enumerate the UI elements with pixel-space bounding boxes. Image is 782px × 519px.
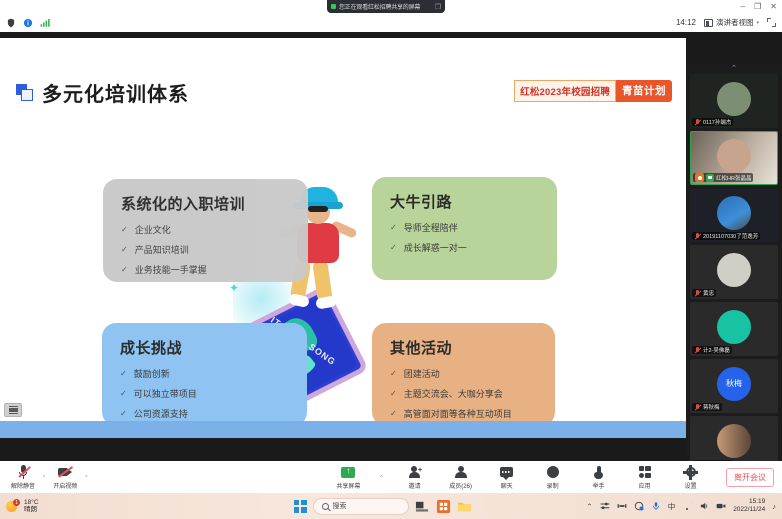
participant-nametag: 黄忠 bbox=[692, 289, 716, 297]
card-heading: 其他活动 bbox=[390, 337, 537, 358]
participant-tile[interactable]: 计2-吴佛磊 bbox=[690, 302, 778, 356]
chevron-down-icon: ▾ bbox=[756, 20, 759, 26]
list-item-label: 业务技能一手掌握 bbox=[135, 263, 207, 276]
record-icon bbox=[547, 466, 559, 478]
restore-icon[interactable]: ❐ bbox=[435, 3, 441, 11]
list-item-label: 鼓励创新 bbox=[134, 367, 170, 380]
campaign-badge: 红松2023年校园招聘 bbox=[514, 80, 616, 102]
leave-meeting-button[interactable]: 离开会议 bbox=[726, 468, 774, 487]
minimize-button[interactable]: – bbox=[741, 3, 745, 11]
list-item: ✓ 导师全程陪伴 bbox=[390, 221, 539, 234]
video-toggle-button[interactable]: 开启视频 bbox=[50, 465, 80, 490]
host-icon bbox=[695, 173, 704, 182]
meeting-elapsed-time: 14:12 bbox=[676, 18, 696, 27]
share-screen-icon bbox=[341, 467, 355, 478]
check-icon: ✓ bbox=[121, 265, 128, 274]
participant-tile[interactable]: 黄忠 bbox=[690, 245, 778, 299]
participant-tile-active[interactable]: 红松HR张晶晶 bbox=[690, 131, 778, 185]
clock-time: 15:19 bbox=[733, 498, 765, 506]
video-toggle-label: 开启视频 bbox=[53, 481, 77, 490]
participant-name: 计2-吴佛磊 bbox=[703, 346, 730, 354]
program-badge: 青苗计划 bbox=[616, 80, 672, 102]
list-item: ✓ 鼓励创新 bbox=[120, 367, 289, 380]
search-placeholder: 搜索 bbox=[333, 501, 347, 511]
list-item-label: 导师全程陪伴 bbox=[404, 221, 458, 234]
system-tray: ⌃ 中 bbox=[586, 498, 776, 514]
notifications-icon[interactable]: ♪ bbox=[772, 502, 776, 511]
mic-muted-icon bbox=[694, 290, 701, 297]
card-list: ✓ 团建活动 ✓ 主题交流会、大咖分享会 ✓ 高管面对面等各种互动项目 bbox=[390, 367, 537, 420]
card-onboarding: 系统化的入职培训 ✓ 企业文化 ✓ 产品知识培训 ✓ 业务技能一手掌握 bbox=[103, 179, 308, 282]
fullscreen-icon[interactable] bbox=[767, 18, 776, 27]
check-icon: ✓ bbox=[390, 409, 397, 418]
usb-device-icon[interactable] bbox=[617, 501, 627, 511]
share-screen-button[interactable]: 共享屏幕 bbox=[333, 465, 363, 490]
check-icon: ✓ bbox=[120, 409, 127, 418]
slide-title-row: 多元化培训体系 bbox=[16, 78, 189, 107]
list-item: ✓ 团建活动 bbox=[390, 367, 537, 380]
ime-indicator[interactable]: 中 bbox=[668, 501, 676, 512]
members-button[interactable]: 成员(26) bbox=[446, 465, 476, 490]
participant-name: 蒋秋梅 bbox=[703, 403, 720, 411]
avatar: 秋梅 bbox=[717, 367, 751, 401]
participant-nametag: 红松HR张晶晶 bbox=[693, 173, 753, 182]
raise-hand-label: 举手 bbox=[593, 481, 605, 490]
participant-name: 黄忠 bbox=[703, 289, 714, 297]
speaker-notes-icon[interactable] bbox=[4, 403, 22, 417]
apps-label: 应用 bbox=[639, 481, 651, 490]
weather-temp: 18°C bbox=[24, 499, 39, 506]
slide-badges: 红松2023年校园招聘 青苗计划 bbox=[514, 80, 672, 102]
sparkle-icon: ✦ bbox=[229, 281, 239, 295]
check-icon: ✓ bbox=[390, 389, 397, 398]
audio-toggle-button[interactable]: 解除静音 bbox=[8, 465, 38, 490]
gear-icon bbox=[685, 466, 697, 478]
check-icon: ✓ bbox=[390, 223, 397, 232]
chat-label: 聊天 bbox=[501, 481, 513, 490]
wifi-icon[interactable] bbox=[682, 502, 692, 510]
view-mode-selector[interactable]: 演讲者视图 ▾ bbox=[704, 17, 759, 28]
participant-name: 0117孙端杰 bbox=[703, 118, 731, 126]
list-item-label: 高管面对面等各种互动项目 bbox=[404, 407, 512, 420]
notification-badge: 1 bbox=[13, 499, 20, 506]
list-item-label: 成长解惑一对一 bbox=[404, 241, 467, 254]
tencent-meeting-tray-icon[interactable] bbox=[716, 501, 726, 511]
meeting-stage: 多元化培训体系 红松2023年校园招聘 青苗计划 ✦ ✦ IT.EONG.SON… bbox=[0, 32, 782, 461]
participant-name: 20191107030了范逸芳 bbox=[703, 232, 758, 240]
windows-taskbar: 1 18°C 晴朗 搜索 bbox=[0, 493, 782, 519]
check-icon: ✓ bbox=[121, 245, 128, 254]
invite-person-icon: + bbox=[408, 466, 421, 479]
scroll-up-icon[interactable]: ⌃ bbox=[686, 64, 782, 72]
members-label: 成员(26) bbox=[449, 481, 472, 490]
check-icon: ✓ bbox=[120, 369, 127, 378]
avatar bbox=[717, 310, 751, 344]
weather-widget[interactable]: 1 18°C 晴朗 bbox=[6, 499, 39, 514]
list-item: ✓ 公司资源支持 bbox=[120, 407, 289, 420]
speaker-view-icon bbox=[704, 19, 713, 27]
share-options-caret-icon[interactable]: ⌃ bbox=[379, 475, 383, 490]
microphone-icon[interactable] bbox=[651, 501, 661, 511]
square-bullet-icon bbox=[16, 84, 33, 101]
mic-muted-icon bbox=[694, 119, 701, 126]
participant-tile[interactable]: 艺术李莉新 bbox=[690, 416, 778, 461]
maximize-button[interactable]: ❐ bbox=[754, 3, 761, 11]
participant-tile[interactable]: 20191107030了范逸芳 bbox=[690, 188, 778, 242]
view-mode-label: 演讲者视图 bbox=[716, 17, 754, 28]
participant-tile[interactable]: 0117孙端杰 bbox=[690, 74, 778, 128]
task-view-icon[interactable] bbox=[415, 499, 430, 514]
avatar bbox=[717, 253, 751, 287]
list-item-label: 企业文化 bbox=[135, 223, 171, 236]
participants-rail[interactable]: ⌃ 0117孙端杰 红松HR张晶晶 bbox=[686, 64, 782, 461]
file-explorer-icon[interactable] bbox=[457, 499, 472, 514]
chat-button[interactable]: 聊天 bbox=[492, 465, 522, 490]
mic-muted-icon bbox=[694, 347, 701, 354]
participant-tile[interactable]: 秋梅 蒋秋梅 bbox=[690, 359, 778, 413]
list-item: ✓ 企业文化 bbox=[121, 223, 290, 236]
card-growth: 成长挑战 ✓ 鼓励创新 ✓ 可以独立带项目 ✓ 公司资源支持 bbox=[102, 323, 307, 426]
list-item-label: 团建活动 bbox=[404, 367, 440, 380]
slide-footer-band bbox=[0, 421, 686, 438]
audio-options-caret-icon[interactable]: ⌃ bbox=[42, 475, 46, 490]
card-heading: 系统化的入职培训 bbox=[121, 193, 290, 214]
taskbar-clock[interactable]: 15:19 2022/11/24 bbox=[733, 498, 765, 514]
card-heading: 成长挑战 bbox=[120, 337, 289, 358]
list-item: ✓ 产品知识培训 bbox=[121, 243, 290, 256]
shared-slide[interactable]: 多元化培训体系 红松2023年校园招聘 青苗计划 ✦ ✦ IT.EONG.SON… bbox=[0, 38, 686, 438]
card-heading: 大牛引路 bbox=[390, 191, 539, 212]
tray-overflow-caret-icon[interactable]: ⌃ bbox=[586, 502, 592, 511]
list-item-label: 公司资源支持 bbox=[134, 407, 188, 420]
weather-condition: 晴朗 bbox=[24, 506, 39, 513]
participant-nametag: 计2-吴佛磊 bbox=[692, 346, 732, 354]
settings-button[interactable]: 设置 bbox=[676, 465, 706, 490]
clock-date: 2022/11/24 bbox=[733, 506, 765, 514]
record-button[interactable]: 录制 bbox=[538, 465, 568, 490]
check-icon: ✓ bbox=[390, 243, 397, 252]
invite-button[interactable]: + 邀请 bbox=[400, 465, 430, 490]
avatar bbox=[717, 82, 751, 116]
meeting-toolbar: 解除静音 ⌃ 开启视频 ⌃ 共享屏幕 ⌃ + 邀请 bbox=[0, 461, 782, 493]
participant-nametag: 20191107030了范逸芳 bbox=[692, 232, 760, 240]
participant-nametag: 蒋秋梅 bbox=[692, 403, 722, 411]
windows-start-icon[interactable] bbox=[294, 500, 307, 513]
video-options-caret-icon[interactable]: ⌃ bbox=[84, 475, 88, 490]
meeting-info-icon[interactable] bbox=[23, 18, 33, 28]
mic-muted-icon bbox=[694, 233, 701, 240]
check-icon: ✓ bbox=[390, 369, 397, 378]
search-input[interactable]: 搜索 bbox=[313, 498, 409, 515]
audio-toggle-label: 解除静音 bbox=[11, 481, 35, 490]
list-item-label: 可以独立带项目 bbox=[134, 387, 197, 400]
card-list: ✓ 鼓励创新 ✓ 可以独立带项目 ✓ 公司资源支持 bbox=[120, 367, 289, 420]
raise-hand-icon bbox=[594, 466, 604, 479]
share-screen-label: 共享屏幕 bbox=[336, 481, 360, 490]
camera-off-icon bbox=[58, 467, 73, 478]
apps-grid-icon bbox=[639, 466, 651, 478]
invite-label: 邀请 bbox=[409, 481, 421, 490]
screen-root: – ❐ ✕ 您正在观看红松招聘共享的屏幕 ❐ 1 bbox=[0, 0, 782, 519]
settings-label: 设置 bbox=[685, 481, 697, 490]
sharing-icon bbox=[706, 174, 714, 182]
list-item: ✓ 高管面对面等各种互动项目 bbox=[390, 407, 537, 420]
meeting-security-icon[interactable] bbox=[6, 18, 16, 28]
card-list: ✓ 企业文化 ✓ 产品知识培训 ✓ 业务技能一手掌握 bbox=[121, 223, 290, 276]
screen-share-banner[interactable]: 您正在观看红松招聘共享的屏幕 ❐ bbox=[327, 0, 445, 13]
page-title: 多元化培训体系 bbox=[42, 78, 189, 107]
quick-settings-icon[interactable] bbox=[600, 501, 610, 511]
network-signal-icon[interactable] bbox=[40, 18, 50, 28]
list-item-label: 主题交流会、大咖分享会 bbox=[404, 387, 503, 400]
list-item: ✓ 业务技能一手掌握 bbox=[121, 263, 290, 276]
close-button[interactable]: ✕ bbox=[770, 3, 777, 11]
participant-name: 红松HR张晶晶 bbox=[716, 174, 751, 182]
network-icon[interactable] bbox=[634, 501, 644, 511]
search-icon bbox=[322, 503, 329, 510]
volume-icon[interactable] bbox=[699, 501, 709, 511]
record-label: 录制 bbox=[547, 481, 559, 490]
mic-muted-icon bbox=[18, 465, 29, 479]
avatar bbox=[717, 196, 751, 230]
participant-nametag: 0117孙端杰 bbox=[692, 118, 733, 126]
list-item: ✓ 成长解惑一对一 bbox=[390, 241, 539, 254]
card-activities: 其他活动 ✓ 团建活动 ✓ 主题交流会、大咖分享会 ✓ 高管面对面等各种互动项目 bbox=[372, 323, 555, 426]
share-banner-text: 您正在观看红松招聘共享的屏幕 bbox=[339, 2, 420, 11]
list-item-label: 产品知识培训 bbox=[135, 243, 189, 256]
avatar bbox=[717, 139, 751, 173]
avatar bbox=[717, 424, 751, 458]
mic-muted-icon bbox=[694, 404, 701, 411]
sun-icon: 1 bbox=[6, 499, 20, 513]
list-item: ✓ 主题交流会、大咖分享会 bbox=[390, 387, 537, 400]
check-icon: ✓ bbox=[120, 389, 127, 398]
apps-button[interactable]: 应用 bbox=[630, 465, 660, 490]
raise-hand-button[interactable]: 举手 bbox=[584, 465, 614, 490]
check-icon: ✓ bbox=[121, 225, 128, 234]
members-icon bbox=[454, 466, 467, 479]
chat-bubble-icon bbox=[500, 467, 513, 477]
screen-share-active-icon bbox=[331, 4, 336, 9]
list-item: ✓ 可以独立带项目 bbox=[120, 387, 289, 400]
card-mentorship: 大牛引路 ✓ 导师全程陪伴 ✓ 成长解惑一对一 bbox=[372, 177, 557, 280]
microsoft-store-icon[interactable] bbox=[436, 499, 451, 514]
card-list: ✓ 导师全程陪伴 ✓ 成长解惑一对一 bbox=[390, 221, 539, 254]
meeting-top-bar: 14:12 演讲者视图 ▾ bbox=[0, 13, 782, 32]
